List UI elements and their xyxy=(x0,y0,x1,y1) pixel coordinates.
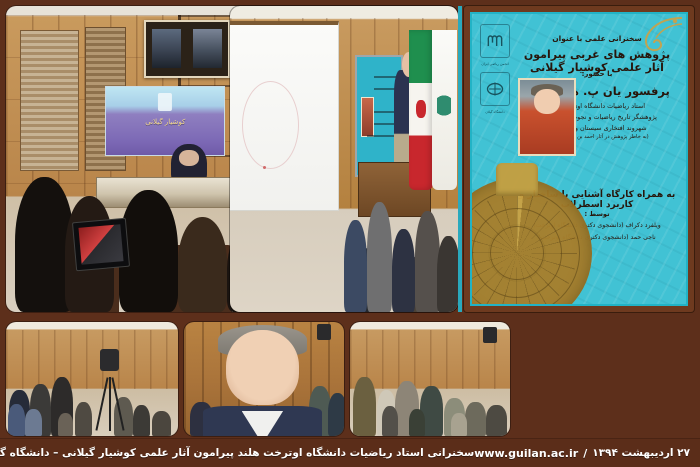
logo-caption-top: انجمن ریاضی ایران xyxy=(477,62,513,66)
audience-figure xyxy=(353,377,375,436)
background-person xyxy=(328,393,344,436)
slide-marker-dot xyxy=(263,166,266,169)
audience-figure xyxy=(409,409,425,436)
poster-left-accent-strip xyxy=(458,6,462,312)
audience-figure xyxy=(382,406,398,436)
tripod-leg xyxy=(111,378,124,431)
ceiling-speaker-icon xyxy=(317,324,331,340)
audience-figure xyxy=(152,411,171,436)
guilan-university-logo-icon xyxy=(480,72,510,106)
audience-figure xyxy=(415,211,440,312)
photo-speaker-at-podium xyxy=(230,6,458,312)
audience-figure xyxy=(344,220,367,312)
audience-figure xyxy=(437,236,458,313)
audience-figure xyxy=(133,405,150,436)
poster-text-line xyxy=(367,135,398,137)
audience-figure xyxy=(367,202,392,312)
photo-audience-right xyxy=(350,322,510,436)
astrolabe-throne xyxy=(496,163,538,196)
window-blinds-1 xyxy=(20,30,79,171)
poster-portrait-thumb xyxy=(361,97,374,137)
audience-figure xyxy=(178,217,228,312)
audience-figure xyxy=(25,409,42,436)
website-group[interactable]: www.guilan.ac.ir / ۲۷ اردیبهشت ۱۳۹۴ xyxy=(474,447,690,460)
banner-logo-icon xyxy=(158,93,172,111)
astrolabe-ring xyxy=(490,226,544,280)
framed-portraits xyxy=(144,20,230,78)
face-shape xyxy=(534,89,560,114)
footer-bar: www.guilan.ac.ir / ۲۷ اردیبهشت ۱۳۹۴ سخنر… xyxy=(0,438,700,467)
face-shape xyxy=(226,330,300,405)
camera-tripod xyxy=(95,349,123,431)
stage-banner: کوشیار گیلانی xyxy=(105,86,225,156)
audience-figure xyxy=(58,413,73,436)
event-poster: انجمن ریاضی ایران دانشگاه گیلان سخنرانی … xyxy=(464,6,694,312)
poster-inner-frame: انجمن ریاضی ایران دانشگاه گیلان سخنرانی … xyxy=(470,12,688,306)
slide-circle-graphic xyxy=(242,81,299,170)
website-url[interactable]: www.guilan.ac.ir xyxy=(474,447,578,460)
audience-figure xyxy=(8,404,25,436)
collage-canvas: کوشیار گیلانی xyxy=(0,0,700,467)
poster-text-line xyxy=(374,76,398,78)
wood-panel-seams xyxy=(6,330,178,389)
iranian-math-society-logo-icon xyxy=(480,24,510,58)
poster-logos: انجمن ریاضی ایران دانشگاه گیلان xyxy=(477,24,513,115)
tablet-device xyxy=(72,218,130,271)
logo-glyph xyxy=(485,31,505,51)
poster-speaker-photo xyxy=(518,78,576,156)
photo-audience-left xyxy=(6,322,178,436)
logo-glyph xyxy=(485,79,505,99)
footer-caption: سخنرانی استاد ریاضیات دانشگاه اوترخت هلن… xyxy=(0,447,474,459)
poster-kicker: سخنرانی علمی با عنوان xyxy=(516,34,678,43)
audience-figure xyxy=(465,402,486,436)
tripod-leg xyxy=(109,377,111,431)
photo-speaker-portrait xyxy=(184,322,344,436)
event-date: ۲۷ اردیبهشت ۱۳۹۴ xyxy=(592,447,690,459)
audience-figure xyxy=(75,402,92,436)
separator: / xyxy=(583,447,587,460)
audience-figure xyxy=(451,413,467,436)
projection-screen xyxy=(230,21,339,211)
tripod-leg xyxy=(95,378,108,431)
logo-caption-bottom: دانشگاه گیلان xyxy=(477,110,513,114)
video-camera-icon xyxy=(100,349,119,370)
banner-text: کوشیار گیلانی xyxy=(114,118,218,126)
audience-figure xyxy=(392,229,415,312)
iran-flag xyxy=(409,30,433,189)
poster-with-label: با حضور: xyxy=(516,70,678,78)
university-flag xyxy=(432,30,457,189)
audience-figure xyxy=(486,405,507,436)
ceiling-speaker-icon xyxy=(483,327,497,343)
